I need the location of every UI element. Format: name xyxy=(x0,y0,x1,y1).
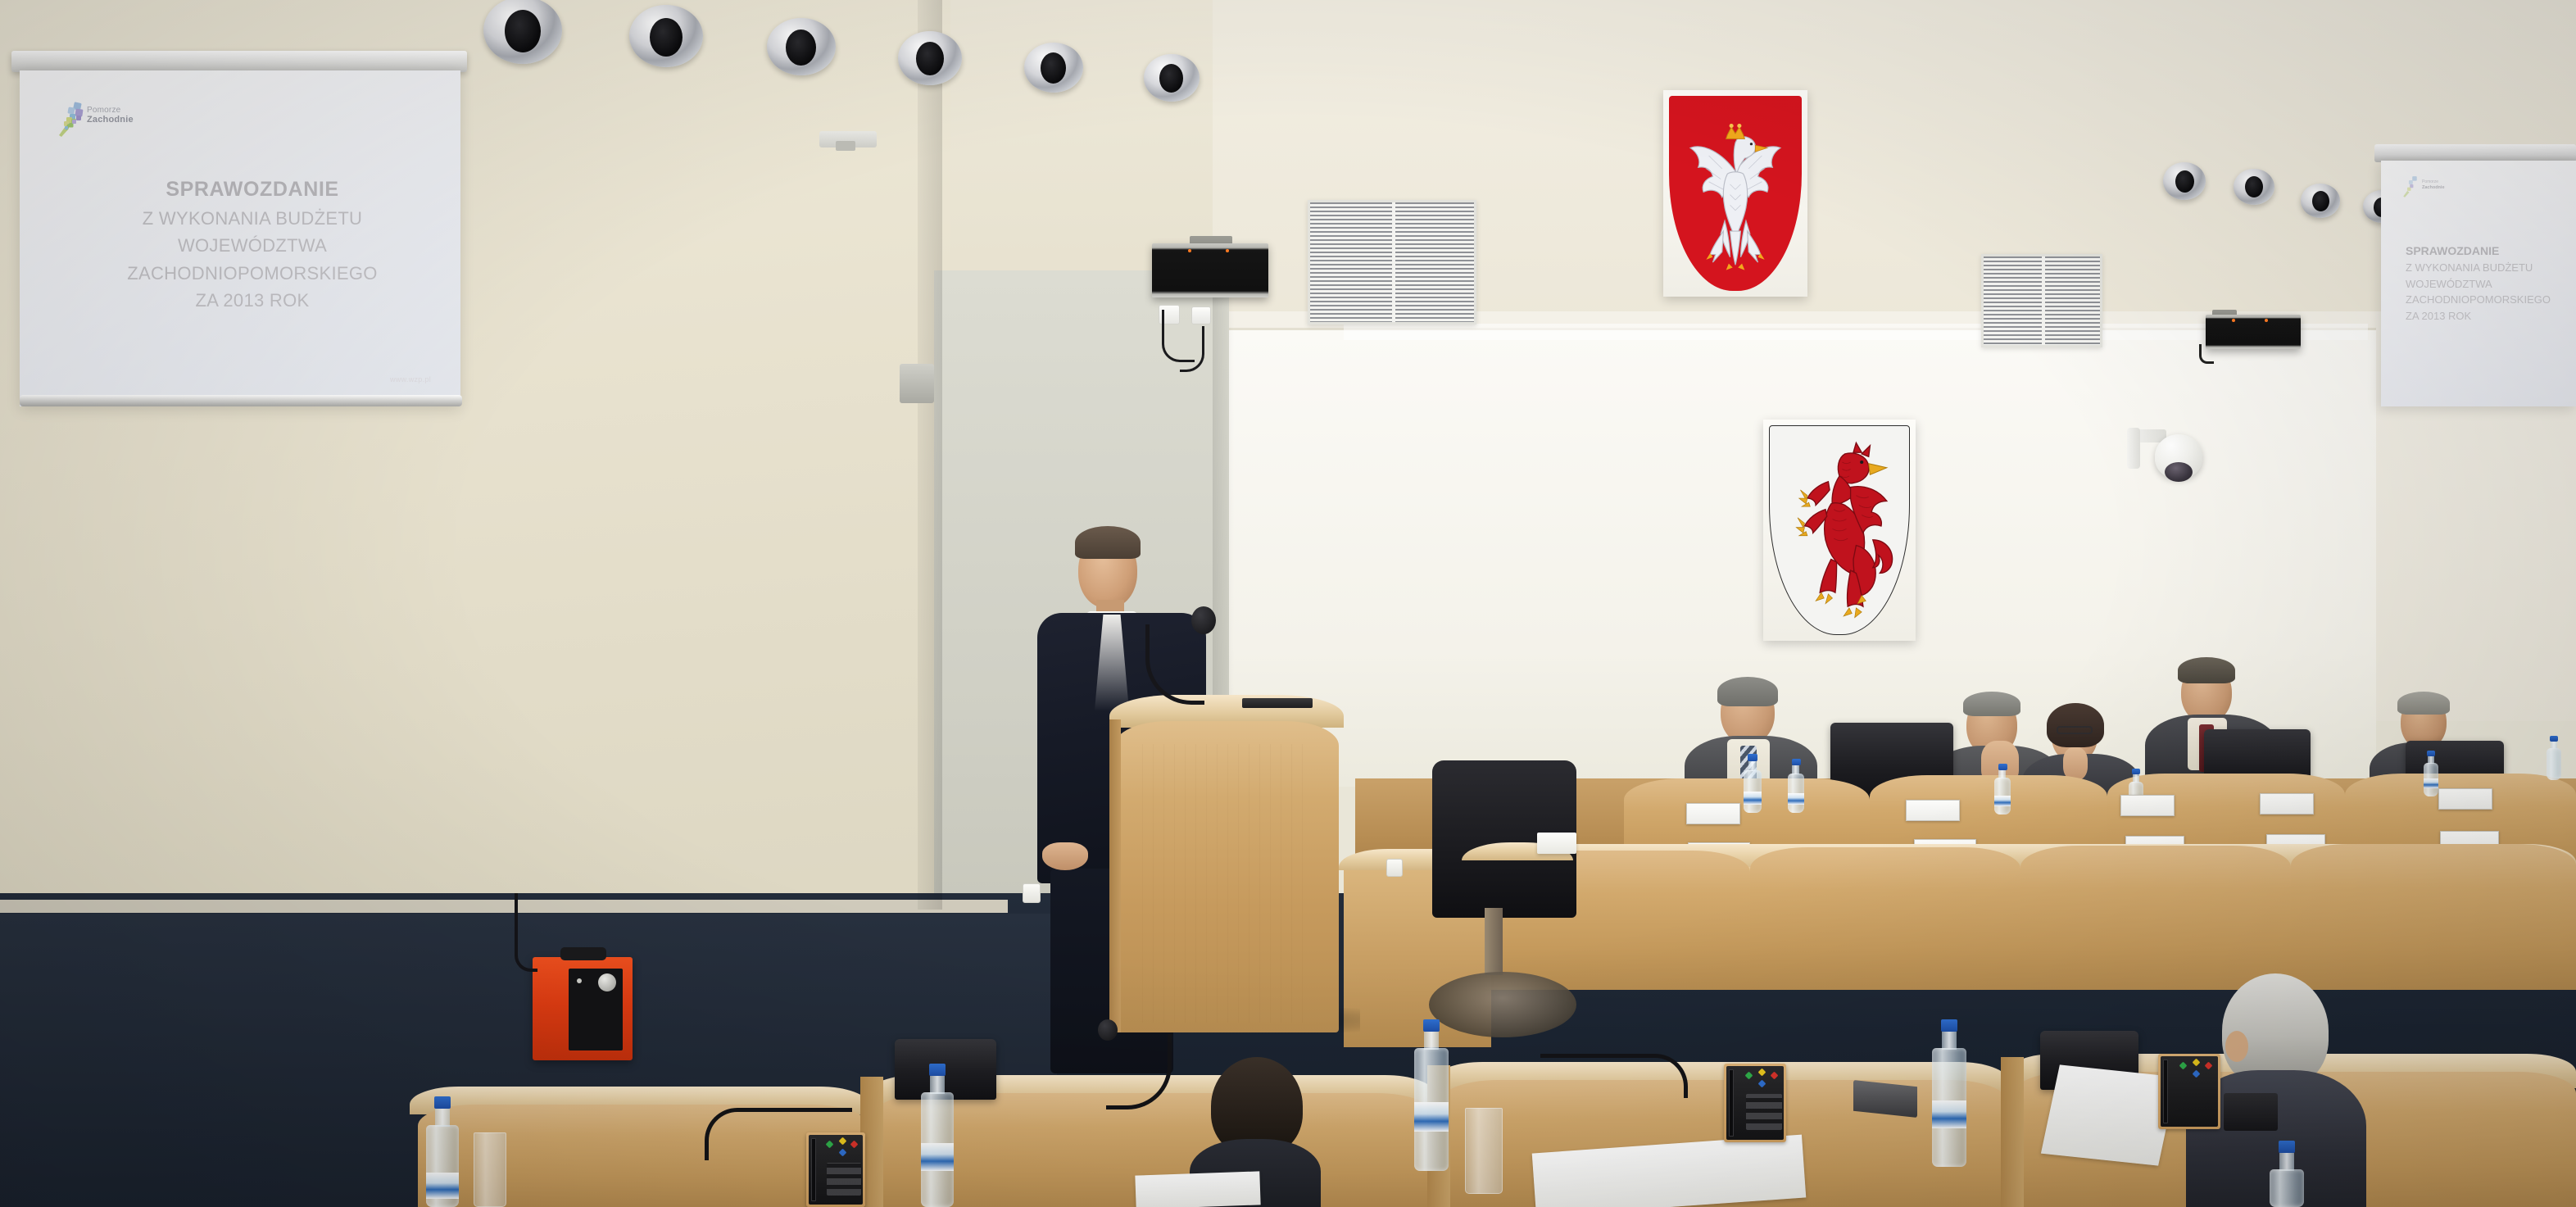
hvac-grille-1 xyxy=(1308,200,1476,324)
drinking-glass-1 xyxy=(474,1132,506,1207)
bottle-cap xyxy=(1941,1019,1957,1032)
slide-title: SPRAWOZDANIE xyxy=(88,174,416,205)
official-2-hair xyxy=(1963,692,2020,716)
projection-screen-housing-right xyxy=(2374,144,2576,162)
slide-logo-right: Pomorze Zachodnie xyxy=(2402,175,2445,203)
water-bottle-back-5 xyxy=(2424,751,2438,796)
voting-console-1-keys[interactable] xyxy=(827,1163,861,1196)
slide-logo-right-line2: Zachodnie xyxy=(2422,185,2445,190)
bottle-cap xyxy=(1748,754,1757,761)
slide-right-title: SPRAWOZDANIE xyxy=(2406,243,2576,260)
wall-corner-shadow xyxy=(918,0,942,910)
downlight-icon-4 xyxy=(898,31,962,85)
slide-logo-line2: Zachodnie xyxy=(87,116,134,125)
projection-screen-left: Pomorze Zachodnie SPRAWOZDANIE Z WYKONAN… xyxy=(20,70,460,406)
wall-speaker-2 xyxy=(2206,315,2301,349)
downlight-icon-6 xyxy=(1144,54,1200,102)
documents-center[interactable] xyxy=(1135,1171,1260,1207)
podium-microphone xyxy=(1131,606,1237,713)
slide-right-text-block: SPRAWOZDANIE Z WYKONANIA BUDŻETU WOJEWÓD… xyxy=(2406,243,2576,324)
wall-outlet-left xyxy=(1023,883,1041,903)
vote-request-button[interactable] xyxy=(2193,1070,2201,1078)
wall-speaker-small xyxy=(900,364,934,403)
official-1-hair xyxy=(1717,677,1778,706)
bottle-cap xyxy=(929,1064,946,1076)
slide-logo-line1: Pomorze xyxy=(87,107,134,116)
bottle-cap xyxy=(1792,759,1801,765)
water-bottle-back-6 xyxy=(2547,736,2561,780)
official-5-hair xyxy=(2397,692,2450,715)
vote-abstain-button[interactable] xyxy=(1758,1069,1766,1077)
polish-eagle-coat-of-arms xyxy=(1663,90,1807,297)
west-pomeranian-griffin-coat-of-arms xyxy=(1763,420,1916,641)
heater-indicator-icon xyxy=(577,978,582,983)
nameplate-middle-3 xyxy=(1686,803,1740,824)
bottle-cap xyxy=(1998,764,2007,770)
speaker-podium xyxy=(1109,695,1344,1032)
slide-right-line-2: WOJEWÓDZTWA xyxy=(2406,276,2576,293)
tablet-holder[interactable] xyxy=(2224,1093,2278,1131)
wall-speaker-1 xyxy=(1152,243,1268,297)
presenter-hand xyxy=(1042,842,1088,870)
bottle-neck xyxy=(930,1076,945,1094)
projection-screen-housing xyxy=(11,51,467,72)
water-bottle-back-1 xyxy=(1744,754,1762,813)
regional-shield xyxy=(1769,425,1910,635)
office-chair-stem xyxy=(1485,908,1503,975)
water-bottle-front-5 xyxy=(2270,1141,2304,1207)
bottle-cap xyxy=(2427,751,2435,756)
middle-desk-panel-2 xyxy=(1750,847,2020,990)
hvac-grille-2 xyxy=(1981,254,2102,347)
projection-screen-right: Pomorze Zachodnie SPRAWOZDANIE Z WYKONAN… xyxy=(2381,161,2576,406)
podium-grain xyxy=(1142,744,1306,1023)
portable-floor-heater[interactable] xyxy=(533,957,633,1060)
downlight-icon-3 xyxy=(767,18,836,75)
bottle-body xyxy=(1414,1048,1449,1171)
official-4-hair xyxy=(2178,657,2235,683)
nameplate-middle-5 xyxy=(2438,788,2492,810)
slide-line-4: ZA 2013 ROK xyxy=(88,287,416,314)
nameplate-middle-1 xyxy=(2120,795,2175,816)
water-bottle-front-3 xyxy=(1414,1019,1449,1175)
bottle-body xyxy=(2424,763,2438,796)
voting-console-2[interactable] xyxy=(1724,1064,1786,1142)
microphone-stem xyxy=(1145,624,1204,705)
bottle-cap xyxy=(1423,1019,1440,1032)
bottle-cap xyxy=(2132,769,2140,774)
voting-console-3[interactable] xyxy=(2158,1054,2220,1129)
slide-line-1: Z WYKONANIA BUDŻETU xyxy=(88,205,416,232)
middle-desk-panel-4 xyxy=(2291,844,2576,990)
vote-request-button[interactable] xyxy=(1758,1080,1766,1088)
bottle-body xyxy=(1994,778,2011,814)
slide-right-line-4: ZA 2013 ROK xyxy=(2406,308,2576,324)
podium-desk-plate xyxy=(1242,698,1313,708)
bottle-neck xyxy=(2279,1153,2294,1171)
desk-microphone-2 xyxy=(1540,1054,1688,1103)
vote-abstain-button[interactable] xyxy=(2193,1059,2201,1067)
bottle-body xyxy=(426,1125,459,1207)
documents-right-2[interactable] xyxy=(2041,1064,2177,1165)
water-bottle-back-2 xyxy=(1788,759,1804,813)
voting-console-2-display xyxy=(1729,1069,1734,1137)
nameplate-middle-4 xyxy=(2260,793,2314,814)
water-bottle-front-4 xyxy=(1932,1019,1966,1167)
official-3-glasses-icon xyxy=(2057,726,2093,734)
session-hall-scene: Pomorze Zachodnie SPRAWOZDANIE Z WYKONAN… xyxy=(0,0,2576,1207)
nameplate-middle-2 xyxy=(1906,800,1960,821)
microphone-stem xyxy=(1106,1034,1172,1109)
bottle-cap xyxy=(2550,736,2558,742)
screen-mount-clip xyxy=(836,141,855,151)
downlight-icon-2 xyxy=(629,5,703,67)
water-bottle-back-3 xyxy=(1994,764,2011,814)
attendee-front-right-ear xyxy=(2225,1031,2248,1062)
desk-partition-right xyxy=(2001,1057,2024,1207)
downlight-icon-5 xyxy=(1024,43,1083,93)
desk-microphone-3 xyxy=(705,1108,852,1165)
voting-console-3-display xyxy=(2163,1060,2168,1123)
downlight-right-icon-1 xyxy=(2163,162,2206,200)
side-table-papers xyxy=(1537,833,1576,854)
office-chair-base xyxy=(1429,972,1576,1037)
camera-bracket-wall xyxy=(2127,428,2140,469)
national-shield xyxy=(1669,96,1802,291)
bottle-body xyxy=(1932,1048,1966,1167)
drinking-glass-2 xyxy=(1465,1108,1503,1194)
bottle-neck xyxy=(1424,1032,1439,1050)
slide-text-block: SPRAWOZDANIE Z WYKONANIA BUDŻETU WOJEWÓD… xyxy=(88,174,416,315)
official-3-hair xyxy=(2047,703,2104,747)
slide-watermark-url: www.wzp.pl xyxy=(390,375,431,383)
presenter-hair xyxy=(1075,526,1141,559)
voting-console-3-face[interactable] xyxy=(2161,1056,2218,1127)
slide-logo: Pomorze Zachodnie xyxy=(57,100,131,139)
projection-screen-bottom-bar xyxy=(20,395,462,406)
heater-knob[interactable] xyxy=(598,973,616,991)
vote-no-button[interactable] xyxy=(2205,1062,2213,1070)
bottle-body xyxy=(2270,1169,2304,1207)
speaker-cable-2 xyxy=(2199,344,2214,364)
water-bottle-front-2 xyxy=(921,1064,954,1207)
middle-desk-panel-3 xyxy=(2020,846,2291,990)
bottle-neck xyxy=(1942,1032,1957,1050)
water-bottle-front-1 xyxy=(426,1096,459,1207)
bottle-body xyxy=(921,1092,954,1207)
downlight-right-icon-3 xyxy=(2301,184,2340,218)
voting-console-2-face[interactable] xyxy=(1726,1066,1784,1140)
heater-handle xyxy=(560,947,606,960)
slide-line-2: WOJEWÓDZTWA xyxy=(88,232,416,259)
bottle-cap xyxy=(434,1096,451,1109)
slide-right-line-1: Z WYKONANIA BUDŻETU xyxy=(2406,260,2576,276)
bottle-neck xyxy=(435,1109,450,1127)
downlight-right-icon-2 xyxy=(2234,169,2274,205)
slide-right-line-3: ZACHODNIOPOMORSKIEGO xyxy=(2406,292,2576,308)
bottle-cap xyxy=(2279,1141,2295,1153)
vote-no-button[interactable] xyxy=(1771,1072,1779,1080)
wall-outlet-mid xyxy=(1386,859,1403,877)
ptz-dome-camera xyxy=(2155,434,2202,479)
official-3-hand xyxy=(2063,747,2088,780)
podium-left-edge xyxy=(1109,719,1121,1032)
voting-console-2-keys[interactable] xyxy=(1746,1094,1782,1130)
pomorze-zachodnie-mark-icon xyxy=(57,102,87,138)
vote-yes-button[interactable] xyxy=(2179,1062,2188,1070)
heater-cable xyxy=(515,893,537,972)
slide-line-3: ZACHODNIOPOMORSKIEGO xyxy=(88,260,416,287)
desk-microphone-1 xyxy=(1098,1019,1196,1118)
microphone-stem xyxy=(1540,1054,1688,1098)
baseboard xyxy=(0,900,1008,913)
vote-yes-button[interactable] xyxy=(1745,1072,1753,1080)
microphone-stem xyxy=(705,1108,852,1160)
bottle-body xyxy=(1744,770,1762,813)
bottle-body xyxy=(1788,774,1804,813)
bottle-body xyxy=(2547,748,2561,780)
